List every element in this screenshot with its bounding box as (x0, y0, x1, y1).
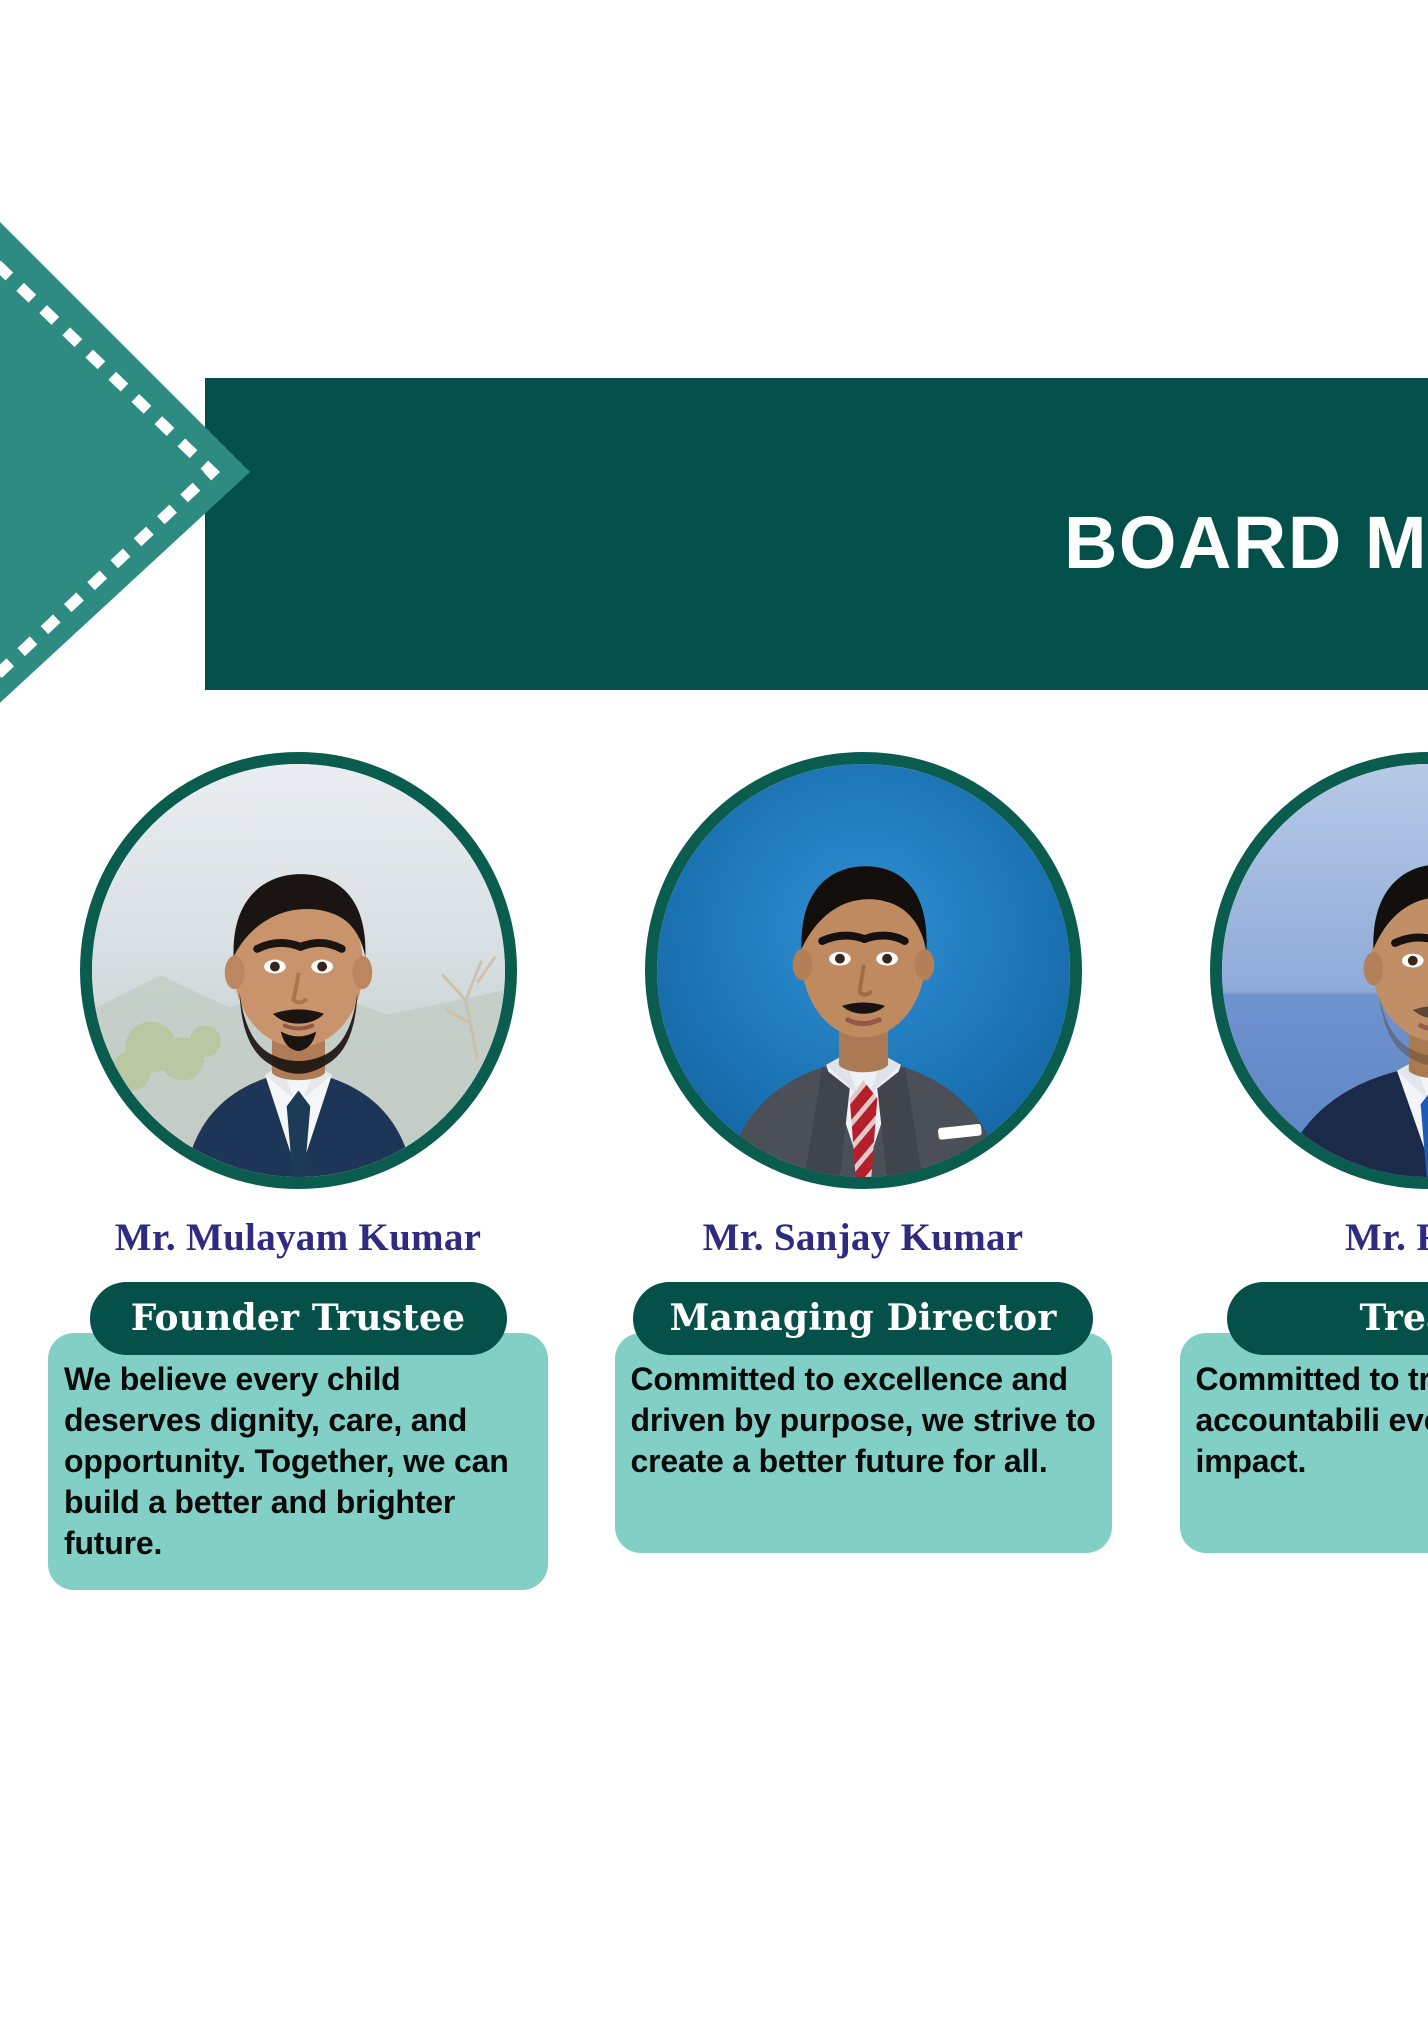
board-members-list: Mr. Mulayam Kumar Founder Trustee We bel… (48, 752, 1428, 1652)
member-name: Mr. Rohit (1178, 1215, 1428, 1260)
member-description-card: Committed to tra and accountabili every … (1180, 1333, 1428, 1553)
member-description: We believe every child deserves dignity,… (64, 1359, 534, 1564)
portrait-photo (1222, 764, 1428, 1177)
poster-canvas: BOARD M (0, 0, 1428, 2018)
board-member-card[interactable]: Mr. Sanjay Kumar Managing Director Commi… (613, 752, 1113, 1553)
page-title: BOARD M (0, 498, 1428, 588)
board-member-card[interactable]: Mr. Rohit Treasu Committed to tra and ac… (1178, 752, 1428, 1553)
member-role-badge: Founder Trustee (90, 1282, 507, 1355)
member-role-badge: Treasu (1227, 1282, 1428, 1355)
portrait-photo (657, 764, 1070, 1177)
member-description-card: We believe every child deserves dignity,… (48, 1333, 548, 1590)
member-description: Committed to excellence and driven by pu… (631, 1359, 1098, 1482)
board-member-card[interactable]: Mr. Mulayam Kumar Founder Trustee We bel… (48, 752, 548, 1590)
member-name: Mr. Sanjay Kumar (613, 1215, 1113, 1260)
portrait-photo (92, 764, 505, 1177)
member-description-card: Committed to excellence and driven by pu… (615, 1333, 1112, 1553)
chevron-dashed-outline (0, 198, 212, 740)
avatar (1210, 752, 1428, 1189)
avatar (645, 752, 1082, 1189)
member-name: Mr. Mulayam Kumar (48, 1215, 548, 1260)
member-role-badge: Managing Director (633, 1282, 1092, 1355)
avatar (80, 752, 517, 1189)
member-description: Committed to tra and accountabili every … (1196, 1359, 1428, 1482)
